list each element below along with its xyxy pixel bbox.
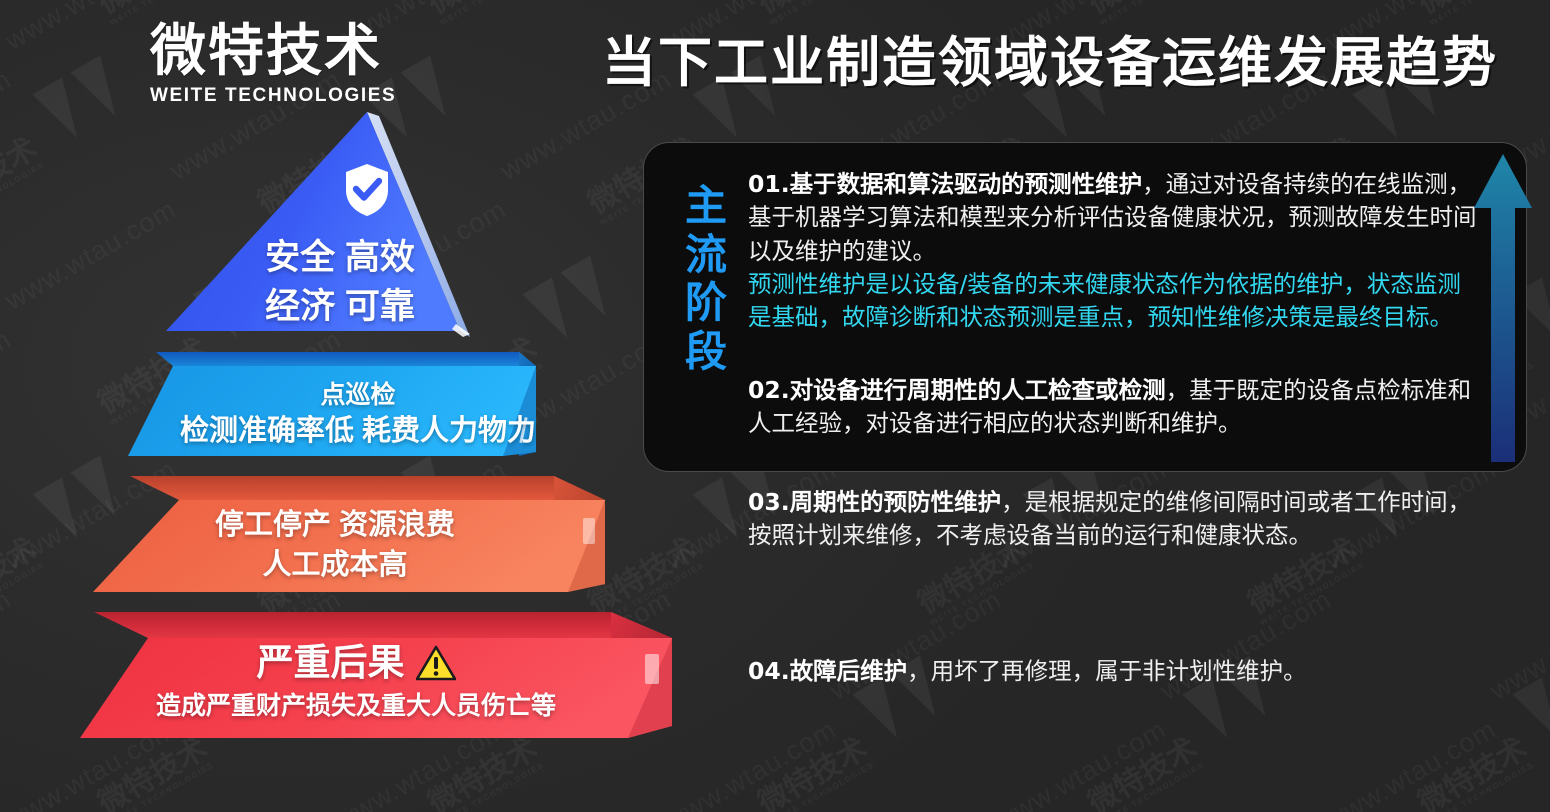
mainstream-stage-label: 主 流 阶 段 (676, 182, 736, 377)
trend-item-04-number: 04. (748, 657, 790, 685)
watermark-url: www.wtau.com (825, 584, 1007, 707)
watermark-url: www.wtau.com (0, 324, 17, 447)
pyramid-tier-1[interactable]: 安全 高效 经济 可靠 (60, 112, 700, 352)
watermark-url: www.wtau.com (1485, 584, 1550, 707)
trend-item-03-highlight: 周期性的预防性维护 (790, 488, 1002, 516)
pyramid-tier-4[interactable]: 严重后果 造成严重财产损失及重大人员伤亡等 (60, 612, 700, 772)
watermark-brand-cn: 微特技术WEITE TECHNOLOGIES (423, 0, 547, 27)
trend-item-predictive-note: 预测性维护是以设备/装备的未来健康状态作为依据的维护，状态监测是基础，故障诊断和… (748, 268, 1478, 335)
trend-item-03-number: 03. (748, 488, 790, 516)
brand-logo-cn: 微特技术 (150, 24, 396, 80)
trend-item-01-highlight: 基于数据和算法驱动的预测性维护 (790, 170, 1143, 198)
watermark-url: www.wtau.com (1155, 584, 1337, 707)
stage-label-char-1: 主 (676, 182, 736, 231)
pyramid-tier-3[interactable]: 停工停产 资源浪费 人工成本高 (60, 476, 700, 616)
watermark-brand-cn: 微特技术WEITE TECHNOLOGIES (0, 133, 47, 228)
stage-label-char-4: 段 (676, 328, 736, 377)
trend-item-04: 04.故障后维护，用坏了再修理，属于非计划性维护。 (748, 655, 1478, 688)
trend-item-predictive-note-body: 预测性维护是以设备/装备的未来健康状态作为依据的维护，状态监测是基础，故障诊断和… (748, 270, 1461, 331)
trend-item-02-number: 02. (748, 376, 790, 404)
watermark-logo-icon (1511, 653, 1550, 748)
shield-check-icon (343, 162, 391, 218)
watermark-url: www.wtau.com (1320, 714, 1502, 812)
trend-item-02: 02.对设备进行周期性的人工检查或检测，基于既定的设备点检标准和人工经验，对设备… (748, 374, 1478, 441)
watermark-brand-cn: 微特技术WEITE TECHNOLOGIES (0, 533, 47, 628)
trend-item-04-body: ，用坏了再修理，属于非计划性维护。 (907, 657, 1307, 685)
trend-item-01-number: 01. (748, 170, 790, 198)
maintenance-pyramid: 安全 高效 经济 可靠 (60, 112, 700, 772)
trend-item-01: 01.基于数据和算法驱动的预测性维护，通过对设备持续的在线监测，基于机器学习算法… (748, 168, 1478, 268)
page-title: 当下工业制造领域设备运维发展趋势 (560, 33, 1540, 92)
watermark-brand-cn: 微特技术WEITE TECHNOLOGIES (753, 0, 877, 27)
watermark-url: www.wtau.com (0, 64, 17, 187)
stage-label-char-2: 流 (676, 231, 736, 280)
watermark-brand-cn: 微特技术WEITE TECHNOLOGIES (1083, 733, 1207, 812)
trend-item-04-highlight: 故障后维护 (790, 657, 908, 685)
watermark-brand-cn: 微特技术WEITE TECHNOLOGIES (753, 733, 877, 812)
watermark-brand-cn: 微特技术WEITE TECHNOLOGIES (1083, 0, 1207, 27)
watermark-url: www.wtau.com (990, 714, 1172, 812)
stage-label-char-3: 阶 (676, 279, 736, 328)
pyramid-tier-2[interactable]: 点巡检 检测准确率低 耗费人力物力 (60, 352, 700, 480)
brand-logo-en: WEITE TECHNOLOGIES (150, 85, 396, 107)
watermark-url: www.wtau.com (0, 584, 17, 707)
trend-item-03: 03.周期性的预防性维护，是根据规定的维修间隔时间或者工作时间，按照计划来维修，… (748, 486, 1478, 553)
brand-logo: 微特技术 WEITE TECHNOLOGIES (150, 24, 396, 107)
trend-item-02-highlight: 对设备进行周期性的人工检查或检测 (790, 376, 1166, 404)
up-arrow-icon (1472, 152, 1534, 464)
watermark-brand-cn: 微特技术WEITE TECHNOLOGIES (1413, 0, 1537, 27)
watermark-brand-cn: 微特技术WEITE TECHNOLOGIES (1413, 733, 1537, 812)
slide-canvas: www.wtau.comwww.wtau.comwww.wtau.comwww.… (0, 0, 1550, 812)
